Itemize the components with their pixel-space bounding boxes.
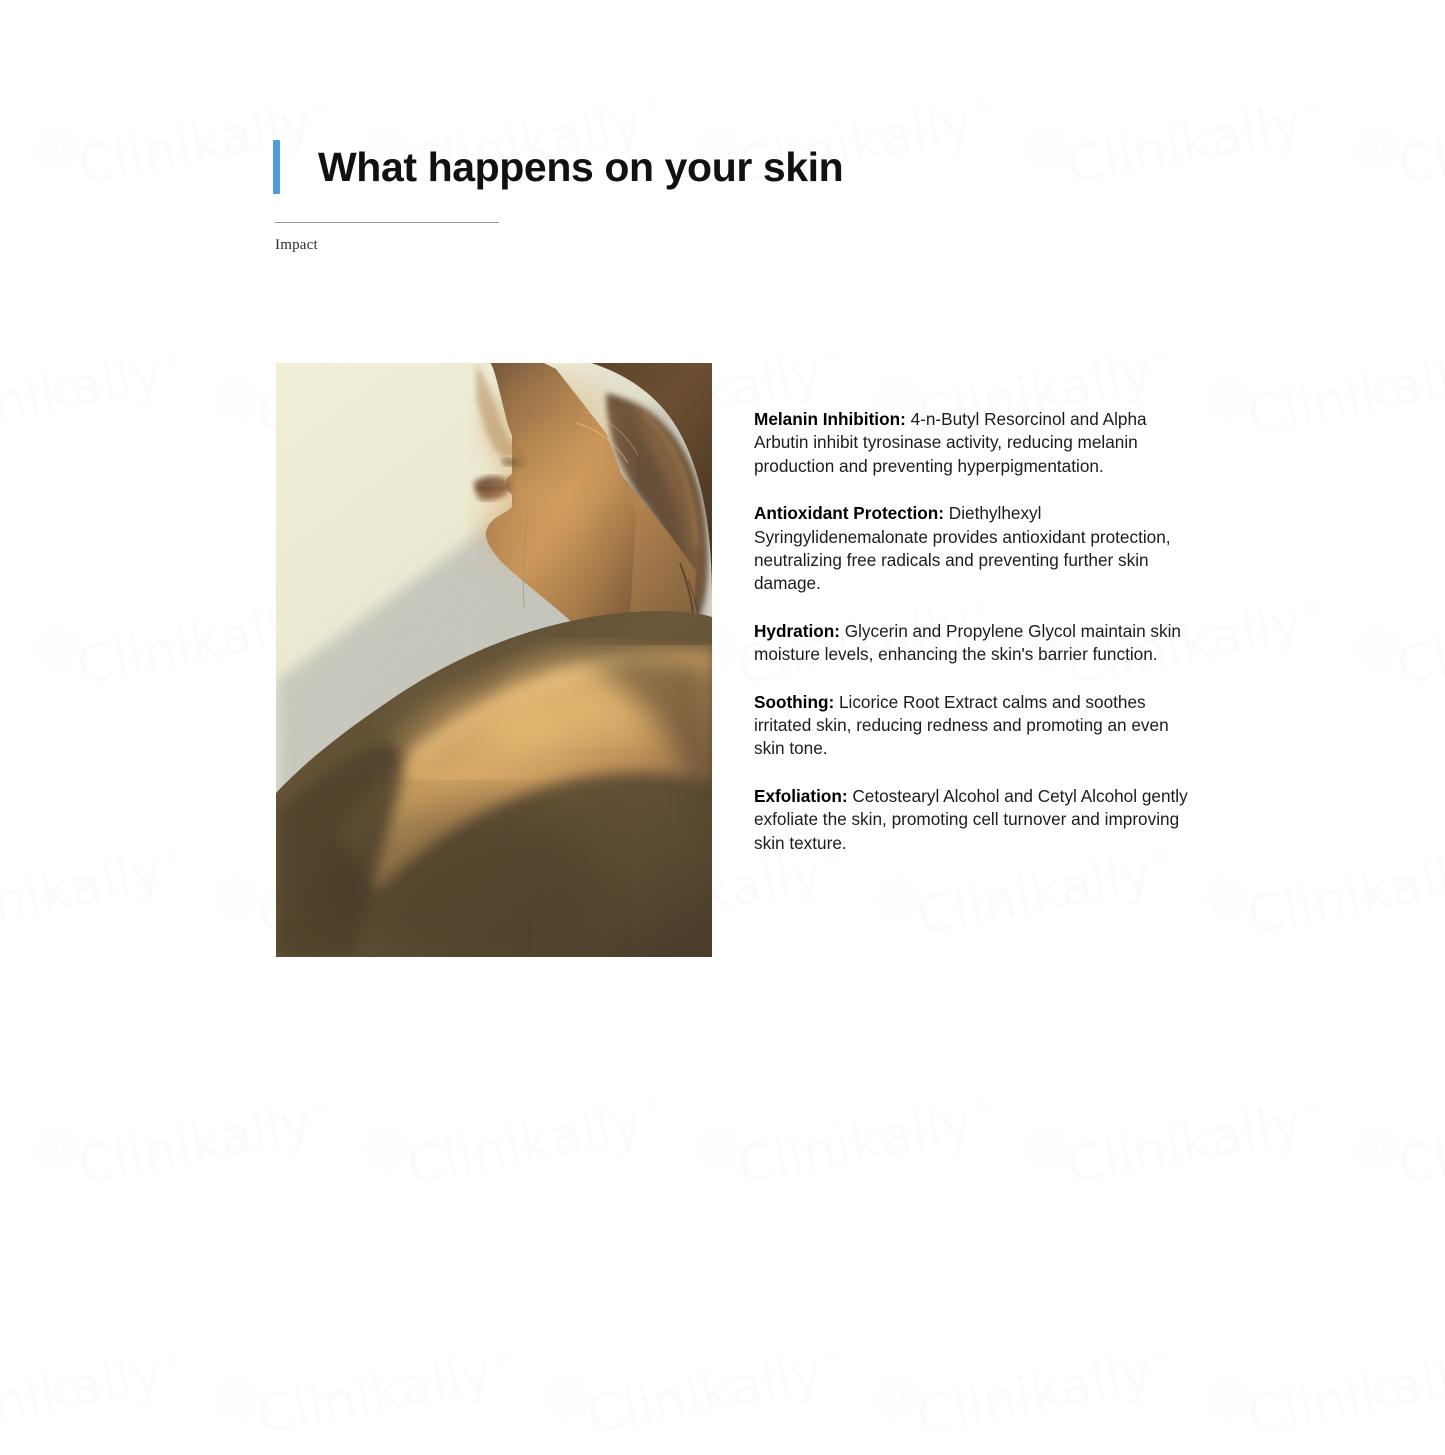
watermark-tile: Clinikally® (690, 1073, 997, 1201)
watermark-tile: Clinikally® (360, 1073, 667, 1201)
clinikally-logo-icon (210, 1371, 264, 1425)
list-item: Hydration: Glycerin and Propylene Glycol… (754, 620, 1196, 667)
watermark-text: Clinikally (583, 1347, 827, 1444)
impact-term: Melanin Inhibition: (754, 409, 906, 429)
page-title: What happens on your skin (280, 140, 843, 194)
impact-term: Exfoliation: (754, 786, 848, 806)
list-item: Melanin Inhibition: 4-n-Butyl Resorcinol… (754, 408, 1196, 478)
watermark-text: Clinikally (733, 1097, 977, 1194)
list-item: Exfoliation: Cetostearyl Alcohol and Cet… (754, 785, 1196, 855)
impact-term: Soothing: (754, 692, 834, 712)
impact-term: Hydration: (754, 621, 840, 641)
slide-header: What happens on your skin (273, 140, 1173, 194)
watermark-text: Clinikally (0, 1347, 167, 1444)
list-item: Soothing: Licorice Root Extract calms an… (754, 691, 1196, 761)
hero-photo (276, 363, 712, 957)
watermark-tile: Clinikally® (870, 1323, 1177, 1451)
clinikally-logo-icon (360, 1121, 414, 1175)
clinikally-logo-icon (540, 1371, 594, 1425)
watermark-text: Clinikally (73, 1097, 317, 1194)
title-row: What happens on your skin (273, 140, 1173, 194)
watermark-text: Clinikally (253, 1347, 497, 1444)
impact-list: Melanin Inhibition: 4-n-Butyl Resorcinol… (754, 408, 1196, 855)
watermark-tile: Clinikally® (0, 1073, 7, 1201)
watermark-tile: Clinikally® (210, 1323, 517, 1451)
clinikally-logo-icon (1350, 1121, 1404, 1175)
watermark-registered-mark: ® (971, 1097, 992, 1120)
clinikally-logo-icon (1200, 1371, 1254, 1425)
watermark-tile: Clinikally® (0, 1323, 187, 1451)
watermark-tile: Clinikally® (1020, 1073, 1327, 1201)
watermark-text: Clinikally (1063, 1097, 1307, 1194)
divider (275, 222, 499, 223)
watermark-tile: Clinikally® (540, 1323, 847, 1451)
clinikally-logo-icon (870, 1371, 924, 1425)
watermark-registered-mark: ® (311, 1097, 332, 1120)
watermark-text: Clinikally (1393, 1097, 1445, 1194)
watermark-registered-mark: ® (1301, 1097, 1322, 1120)
watermark-registered-mark: ® (821, 1347, 842, 1370)
watermark-text: Clinikally (913, 1347, 1157, 1444)
clinikally-logo-icon (690, 1121, 744, 1175)
watermark-tile: Clinikally® (1200, 1323, 1445, 1451)
watermark-registered-mark: ® (161, 1347, 182, 1370)
clinikally-logo-icon (30, 1121, 84, 1175)
watermark-registered-mark: ® (1151, 1347, 1172, 1370)
accent-bar (273, 140, 280, 194)
slide-canvas: What happens on your skin Impact (0, 0, 1445, 1084)
hero-photo-image (276, 363, 712, 957)
watermark-text: Clinikally (1243, 1347, 1445, 1444)
watermark-tile: Clinikally® (1350, 1073, 1445, 1201)
watermark-registered-mark: ® (641, 1097, 662, 1120)
section-label: Impact (275, 237, 318, 254)
watermark-registered-mark: ® (491, 1347, 512, 1370)
clinikally-logo-icon (1020, 1121, 1074, 1175)
watermark-text: Clinikally (403, 1097, 647, 1194)
list-item: Antioxidant Protection: Diethylhexyl Syr… (754, 502, 1196, 596)
impact-term: Antioxidant Protection: (754, 503, 944, 523)
watermark-tile: Clinikally® (30, 1073, 337, 1201)
watermark-registered-mark: ® (0, 1097, 1, 1120)
